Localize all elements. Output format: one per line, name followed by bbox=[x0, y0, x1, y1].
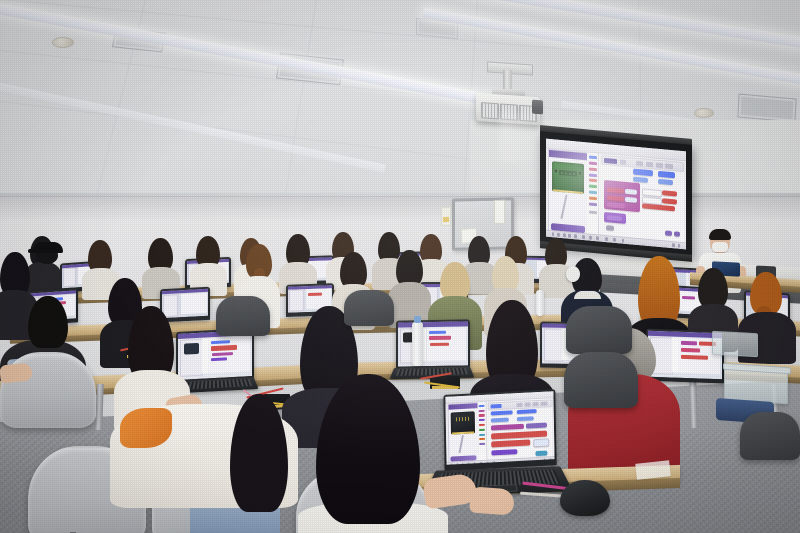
toolbox-category-basic[interactable] bbox=[478, 405, 485, 407]
microbit-edge-connector bbox=[452, 431, 475, 434]
chair-dark-right[interactable] bbox=[564, 352, 638, 408]
chair-dark-row2[interactable] bbox=[216, 296, 270, 336]
water-bottle bbox=[412, 322, 423, 366]
toolbox-category-radio bbox=[589, 179, 598, 183]
simulator-usb-cable bbox=[458, 435, 463, 453]
simulator-title-bar bbox=[448, 403, 477, 410]
toolbox-category-math[interactable] bbox=[479, 443, 486, 445]
code-block bbox=[658, 171, 675, 178]
face-mask-icon bbox=[712, 242, 728, 252]
makecode-workspace bbox=[599, 153, 684, 244]
microbit-button-a bbox=[555, 170, 557, 173]
microbit-simulator-board bbox=[451, 412, 476, 435]
makecode-simulator-panel bbox=[548, 149, 588, 238]
code-block bbox=[674, 232, 681, 237]
simulator-usb-cable bbox=[561, 195, 568, 220]
toolbox-category-math bbox=[589, 202, 598, 206]
code-block bbox=[625, 196, 637, 202]
bottle-cap bbox=[414, 316, 420, 323]
code-block[interactable] bbox=[533, 439, 549, 447]
code-block[interactable] bbox=[526, 422, 547, 428]
code-block[interactable] bbox=[536, 451, 548, 456]
chair-dark-far-right[interactable] bbox=[740, 412, 800, 460]
chair-dark-mid[interactable] bbox=[566, 306, 632, 354]
code-block bbox=[665, 231, 672, 236]
smoke-detector bbox=[52, 37, 74, 48]
code-block[interactable] bbox=[517, 409, 537, 415]
code-block[interactable] bbox=[491, 417, 509, 422]
toolbox-category-music bbox=[589, 167, 598, 171]
instructor-hair bbox=[709, 229, 731, 240]
projection-screen[interactable] bbox=[540, 131, 692, 259]
code-block bbox=[625, 189, 637, 195]
toolbox-category-advanced bbox=[589, 211, 598, 215]
code-block[interactable] bbox=[491, 410, 513, 416]
smoke-detector bbox=[694, 108, 714, 118]
toolbox-category-music[interactable] bbox=[479, 414, 486, 416]
toolbox-category-variables[interactable] bbox=[479, 438, 486, 440]
microbit-edge-connector bbox=[553, 189, 582, 194]
code-block bbox=[662, 191, 677, 197]
code-block[interactable] bbox=[491, 440, 530, 447]
makecode-workspace[interactable] bbox=[487, 398, 553, 461]
toolbox-category-variables bbox=[589, 196, 598, 200]
toolbox-category-input bbox=[589, 161, 598, 165]
ceiling-projector bbox=[476, 93, 540, 126]
code-block[interactable] bbox=[491, 431, 547, 440]
ceiling-air-vent bbox=[737, 94, 796, 123]
ceiling-light-strip bbox=[422, 8, 800, 91]
water-bottle bbox=[536, 290, 544, 316]
hand bbox=[469, 486, 515, 515]
code-block[interactable] bbox=[517, 416, 534, 421]
code-block bbox=[642, 203, 676, 212]
parts-storage-bin bbox=[712, 331, 758, 357]
chair-dark-row2b[interactable] bbox=[344, 290, 394, 326]
toolbox-category-logic bbox=[589, 191, 598, 195]
ceiling-light-strip bbox=[0, 75, 386, 172]
microbit-led-matrix bbox=[456, 417, 470, 422]
makecode-editor-projected bbox=[546, 139, 686, 250]
simulator-title-bar bbox=[549, 150, 587, 161]
code-block[interactable] bbox=[491, 449, 517, 455]
code-block bbox=[633, 176, 648, 182]
makecode-simulator-panel bbox=[447, 402, 479, 465]
classroom-photograph bbox=[0, 0, 800, 533]
workspace-toolbar[interactable] bbox=[488, 399, 553, 410]
toolbox-category-loops[interactable] bbox=[479, 429, 486, 431]
toolbox-category-led[interactable] bbox=[479, 419, 486, 421]
toolbox-category-loops bbox=[589, 185, 598, 189]
laptop-lid bbox=[443, 389, 556, 471]
computer-mouse[interactable] bbox=[560, 480, 610, 516]
code-block bbox=[633, 169, 653, 177]
headphones-icon bbox=[566, 266, 580, 282]
code-block bbox=[662, 198, 677, 204]
collar bbox=[574, 291, 601, 299]
projector-lens bbox=[532, 100, 543, 115]
code-block[interactable] bbox=[491, 424, 524, 431]
makecode-block-toolbox bbox=[587, 152, 599, 236]
toolbox-category-basic bbox=[589, 156, 598, 160]
toolbox-category-led bbox=[589, 173, 598, 177]
toolbox-category-logic[interactable] bbox=[479, 433, 486, 435]
microbit-led-matrix bbox=[559, 169, 577, 176]
toolbox-category-radio[interactable] bbox=[479, 424, 486, 426]
code-block bbox=[606, 226, 614, 231]
code-block bbox=[658, 179, 672, 185]
projected-image bbox=[546, 139, 686, 250]
toolbox-category-input[interactable] bbox=[479, 410, 486, 412]
microbit-simulator-board bbox=[552, 162, 584, 195]
microbit-button-b bbox=[579, 172, 581, 175]
laptop-screen[interactable] bbox=[445, 391, 554, 467]
wall-poster-left bbox=[441, 207, 451, 226]
shirt-graphic bbox=[120, 408, 172, 448]
wall-poster-right bbox=[494, 200, 505, 224]
